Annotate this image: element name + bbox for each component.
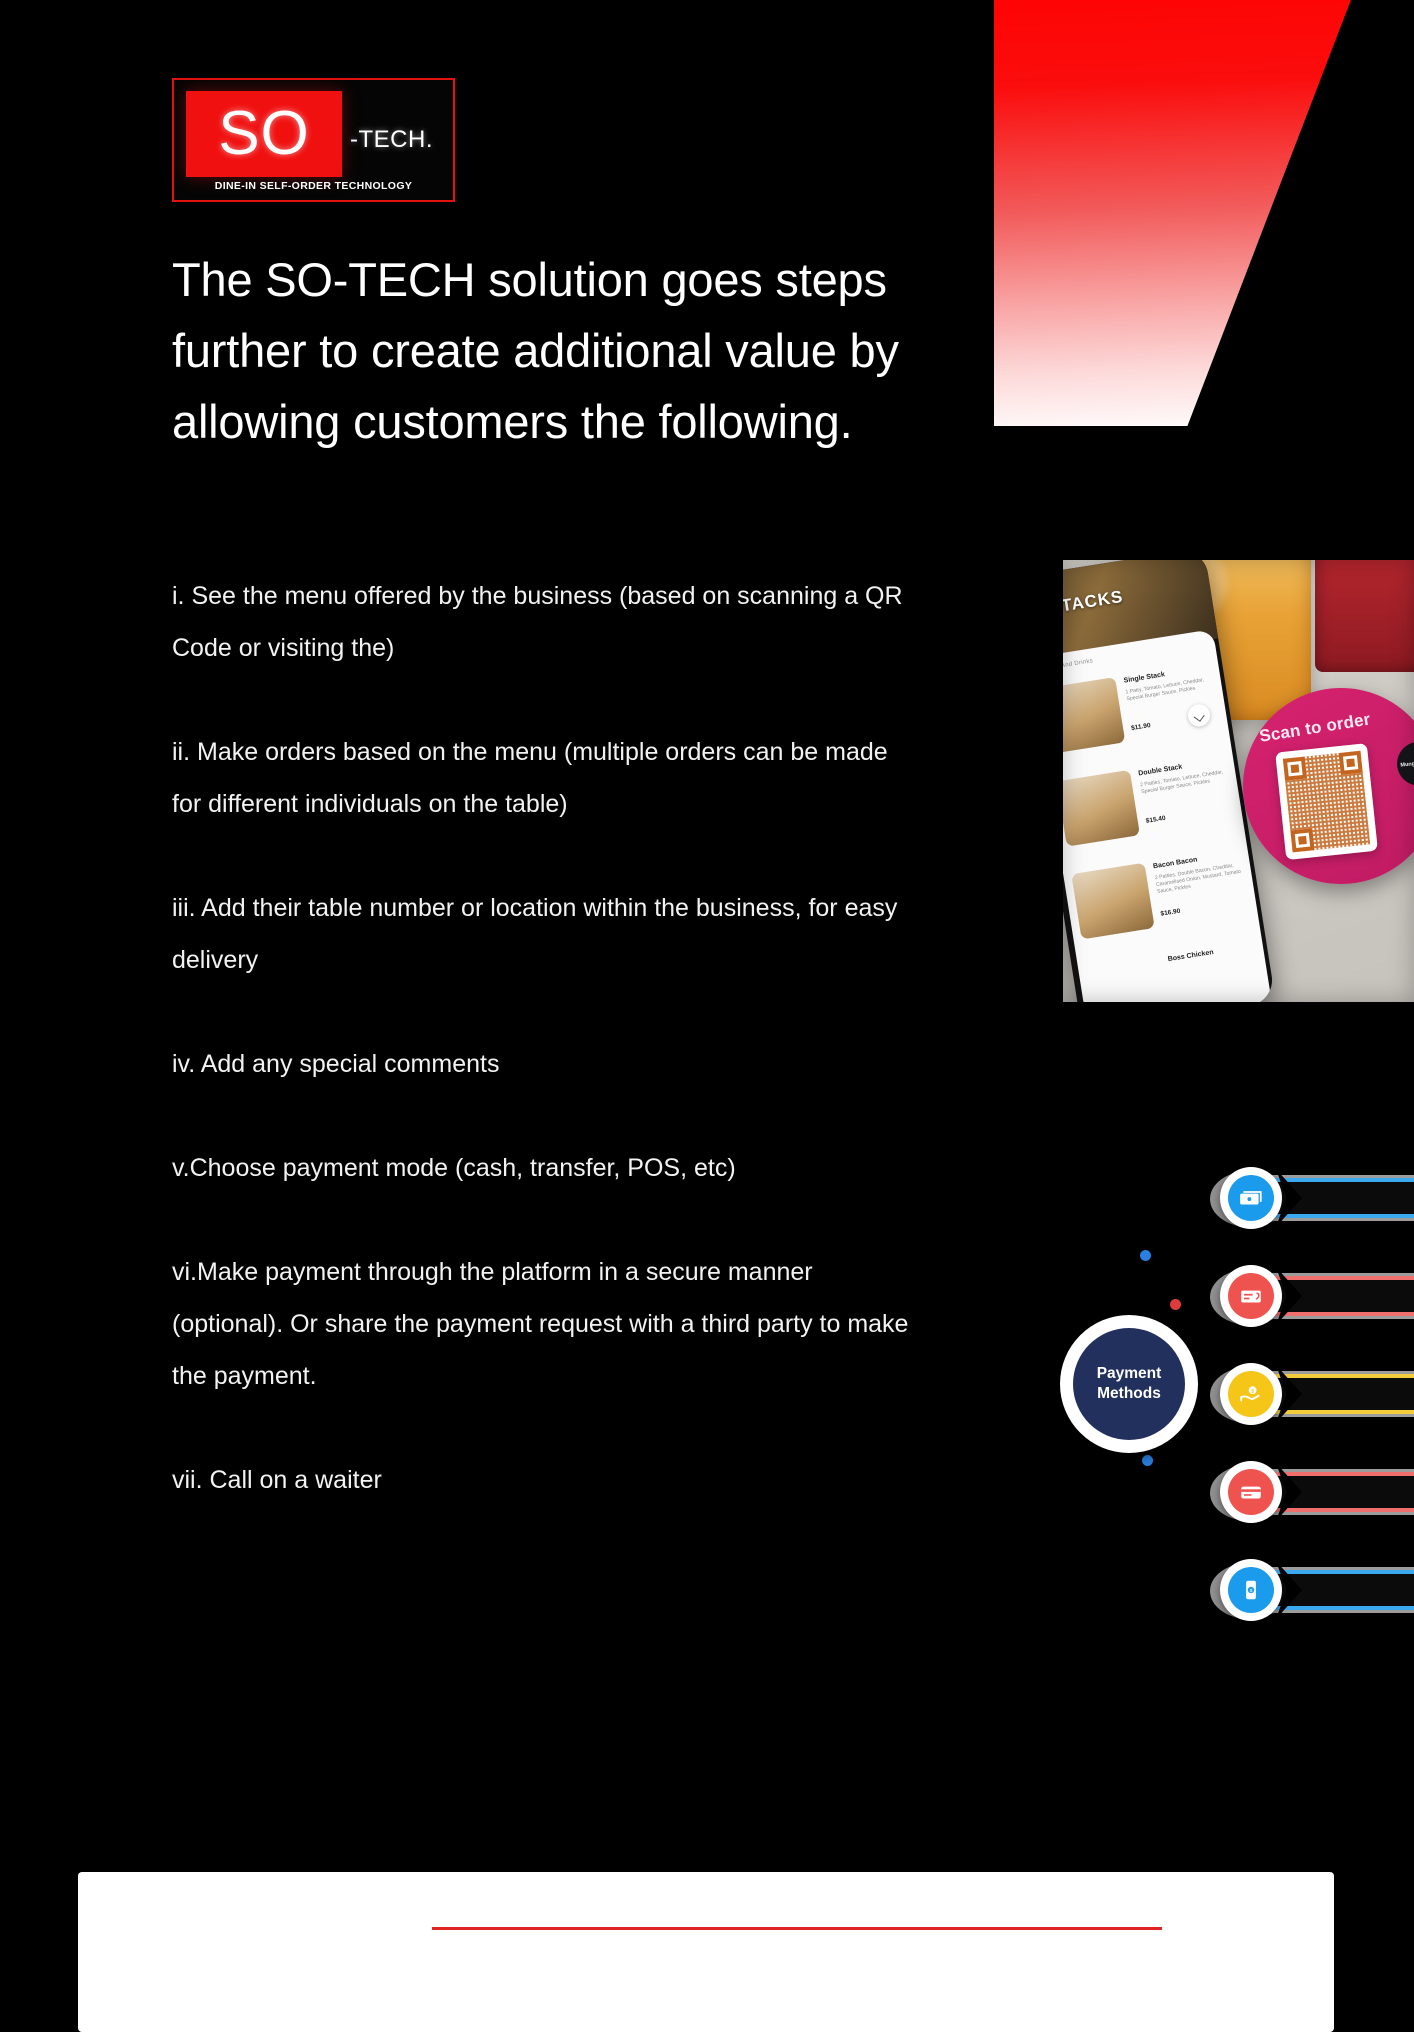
- logo-red-block: SO: [186, 91, 342, 177]
- accent-dot: [1170, 1299, 1181, 1310]
- payment-methods-label-line2: Methods: [1097, 1385, 1161, 1402]
- list-item: ii. Make orders based on the menu (multi…: [172, 726, 912, 830]
- list-item: iv. Add any special comments: [172, 1038, 912, 1090]
- photo-coaster-badge: Mungo Hunter: [1395, 740, 1414, 788]
- payment-method-row: $: [1210, 1557, 1414, 1623]
- qr-ordering-photo: STACKS Food And Drinks Single Stack 1 Pa…: [1063, 560, 1414, 1002]
- accent-dot: [1140, 1250, 1151, 1261]
- logo-tech-text: -TECH.: [350, 126, 433, 154]
- photo-item-name: Double Stack: [1138, 764, 1183, 778]
- cheque-icon: [1220, 1265, 1282, 1327]
- payment-methods-infographic: Payment Methods: [1058, 1165, 1414, 1625]
- credit-card-icon: [1220, 1461, 1282, 1523]
- photo-burger-thumb: [1063, 677, 1125, 754]
- photo-item-price: $15.40: [1145, 815, 1166, 825]
- list-item: i. See the menu offered by the business …: [172, 570, 912, 674]
- photo-item-price: $16.90: [1160, 908, 1181, 918]
- bottom-white-card: [78, 1872, 1334, 2032]
- photo-red-drink: [1315, 560, 1414, 672]
- photo-item-price: $11.90: [1131, 722, 1151, 732]
- photo-item-name: Boss Chicken: [1167, 949, 1214, 963]
- coin-in-hand-icon: $: [1220, 1363, 1282, 1425]
- qr-eye-icon: [1283, 757, 1307, 781]
- qr-code-icon: [1275, 743, 1378, 860]
- svg-text:$: $: [1250, 1588, 1253, 1594]
- payment-methods-circle-inner: Payment Methods: [1073, 1328, 1185, 1440]
- payment-method-row: $: [1210, 1361, 1414, 1427]
- red-diagonal-banner: [994, 0, 1414, 426]
- page-headline: The SO-TECH solution goes steps further …: [172, 244, 1002, 457]
- logo-tagline: DINE-IN SELF-ORDER TECHNOLOGY: [174, 180, 453, 192]
- logo-so-text: SO: [186, 91, 342, 177]
- list-item: iii. Add their table number or location …: [172, 882, 912, 986]
- brand-logo: SO -TECH. DINE-IN SELF-ORDER TECHNOLOGY: [172, 78, 455, 202]
- qr-eye-icon: [1290, 828, 1314, 852]
- bottom-red-rule: [432, 1927, 1162, 1930]
- payment-method-row: [1210, 1165, 1414, 1231]
- payment-method-row: [1210, 1459, 1414, 1525]
- list-item: vi.Make payment through the platform in …: [172, 1246, 912, 1402]
- payment-method-row: [1210, 1263, 1414, 1329]
- photo-menu-section-label: Food And Drinks: [1063, 658, 1094, 672]
- poster-canvas: SO -TECH. DINE-IN SELF-ORDER TECHNOLOGY …: [0, 0, 1414, 2000]
- red-diagonal-shape: [994, 0, 1364, 426]
- list-item: vii. Call on a waiter: [172, 1454, 912, 1506]
- feature-list: i. See the menu offered by the business …: [172, 570, 912, 1506]
- photo-burger-thumb: [1071, 863, 1154, 940]
- banknotes-icon: [1220, 1167, 1282, 1229]
- accent-dot: [1142, 1455, 1153, 1466]
- qr-eye-icon: [1339, 751, 1363, 775]
- photo-burger-thumb: [1063, 770, 1140, 847]
- photo-item-name: Single Stack: [1123, 671, 1165, 684]
- photo-item-name: Bacon Bacon: [1153, 856, 1198, 870]
- list-item: v.Choose payment mode (cash, transfer, P…: [172, 1142, 912, 1194]
- payment-methods-label-line1: Payment: [1097, 1365, 1162, 1382]
- mobile-payment-icon: $: [1220, 1559, 1282, 1621]
- payment-methods-circle: Payment Methods: [1060, 1315, 1198, 1453]
- svg-text:$: $: [1251, 1389, 1254, 1395]
